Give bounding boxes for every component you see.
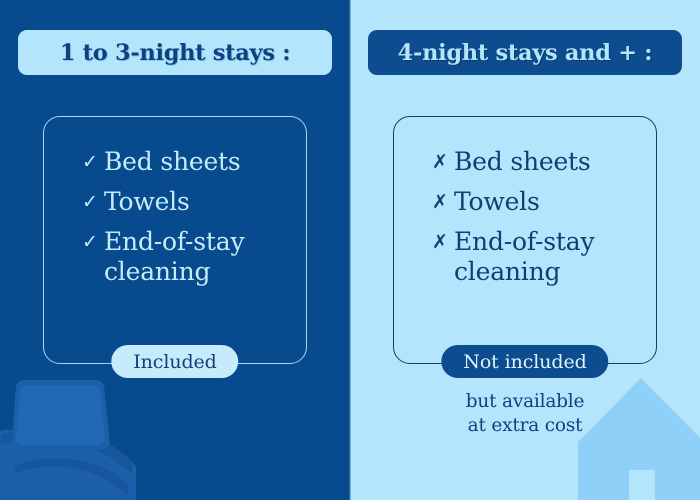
panel-short-stays: 1 to 3-night stays : ✓ Bed sheets ✓ Towe… bbox=[0, 0, 350, 500]
list-item: ✗ Bed sheets bbox=[432, 147, 656, 177]
list-item: ✓ Bed sheets bbox=[82, 147, 306, 177]
header-title: 1 to 3-night stays : bbox=[60, 40, 290, 66]
list-item-label: Towels bbox=[454, 187, 540, 217]
check-icon: ✓ bbox=[82, 187, 104, 217]
check-icon: ✓ bbox=[82, 227, 104, 257]
status-note-line: but available bbox=[350, 390, 700, 414]
header-pill-short-stays: 1 to 3-night stays : bbox=[18, 30, 332, 75]
list-item-label: Bed sheets bbox=[454, 147, 591, 177]
status-note-line: at extra cost bbox=[350, 414, 700, 438]
status-badge-label: Not included bbox=[463, 351, 586, 373]
folded-linens-icon bbox=[0, 370, 196, 500]
list-item: ✓ End-of-stay cleaning bbox=[82, 227, 306, 287]
cross-icon: ✗ bbox=[432, 147, 454, 177]
status-badge: Included bbox=[111, 345, 238, 378]
list-item-label: Towels bbox=[104, 187, 190, 217]
header-title: 4-night stays and + : bbox=[398, 40, 653, 66]
list-item-label: End-of-stay cleaning bbox=[454, 227, 656, 287]
cross-icon: ✗ bbox=[432, 227, 454, 257]
status-note: but available at extra cost bbox=[350, 390, 700, 438]
inclusions-card-short-stays: ✓ Bed sheets ✓ Towels ✓ End-of-stay clea… bbox=[43, 116, 307, 364]
stay-inclusions-infographic: 1 to 3-night stays : ✓ Bed sheets ✓ Towe… bbox=[0, 0, 700, 500]
panel-long-stays: 4-night stays and + : ✗ Bed sheets ✗ Tow… bbox=[350, 0, 700, 500]
cross-icon: ✗ bbox=[432, 187, 454, 217]
check-icon: ✓ bbox=[82, 147, 104, 177]
list-item: ✓ Towels bbox=[82, 187, 306, 217]
list-item: ✗ End-of-stay cleaning bbox=[432, 227, 656, 287]
exclusions-list: ✗ Bed sheets ✗ Towels ✗ End-of-stay clea… bbox=[432, 147, 656, 287]
list-item-label: Bed sheets bbox=[104, 147, 241, 177]
inclusions-list: ✓ Bed sheets ✓ Towels ✓ End-of-stay clea… bbox=[82, 147, 306, 287]
exclusions-card-long-stays: ✗ Bed sheets ✗ Towels ✗ End-of-stay clea… bbox=[393, 116, 657, 364]
panel-divider bbox=[349, 0, 351, 500]
status-badge-label: Included bbox=[133, 351, 216, 373]
status-badge: Not included bbox=[441, 345, 608, 378]
list-item-label: End-of-stay cleaning bbox=[104, 227, 306, 287]
header-pill-long-stays: 4-night stays and + : bbox=[368, 30, 682, 75]
list-item: ✗ Towels bbox=[432, 187, 656, 217]
